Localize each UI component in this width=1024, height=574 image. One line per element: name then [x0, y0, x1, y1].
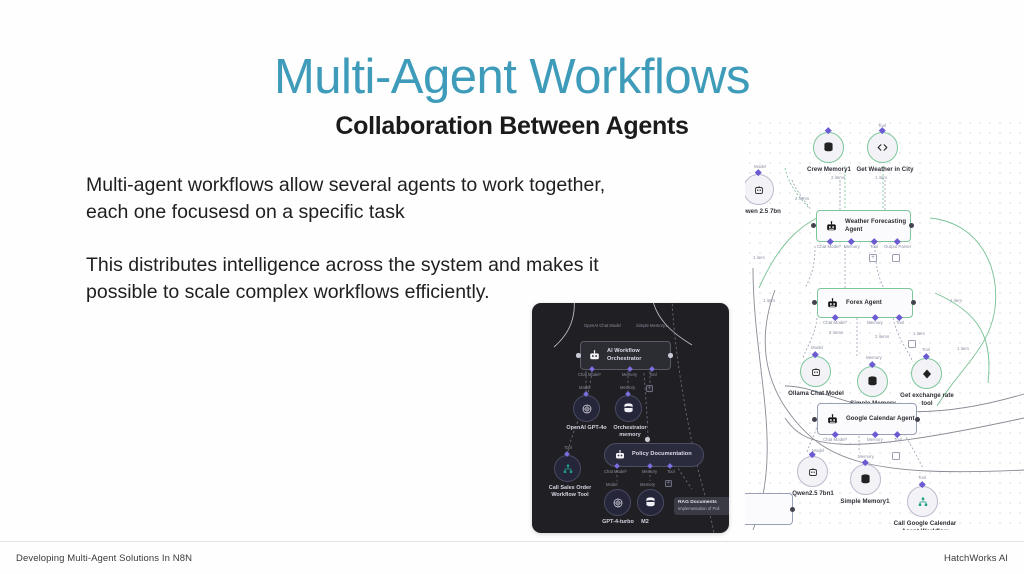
agent-robot-icon	[826, 297, 839, 310]
node-get-weather-in-city[interactable]	[867, 132, 898, 163]
body-paragraph-2: This distributes intelligence across the…	[86, 252, 616, 306]
node-label-orchestrator-memory: Orchestrator memory	[599, 425, 661, 439]
tooltip-rag-documents: RAG Documents Implementation of Poli	[674, 497, 729, 515]
port-out-calendar-agent[interactable]	[915, 417, 920, 422]
node-gpt-4-turbo[interactable]	[604, 489, 631, 516]
port-label-tool-sales: Tool	[564, 445, 572, 450]
port-out-forex-agent[interactable]	[911, 300, 916, 305]
node-qwen-25-7bn[interactable]	[745, 174, 774, 205]
add-node-button-weather-tool[interactable]: +	[869, 254, 877, 262]
port-out-weather-agent[interactable]	[909, 223, 914, 228]
agent-robot-icon	[588, 349, 601, 362]
port-in-calendar-agent[interactable]	[812, 417, 817, 422]
port-label-memory-calendar: Memory	[867, 437, 883, 442]
database-icon	[622, 402, 635, 415]
node-google-calendar-agent-box[interactable]: Google Calendar Agent	[817, 403, 917, 435]
node-call-sales-order-workflow-tool[interactable]	[554, 455, 581, 482]
port-label-memory-policy: Memory	[642, 469, 657, 474]
edge-items-right-a: 1 item	[957, 346, 969, 351]
port-label-chat-model-orchestrator: Chat Model*	[578, 372, 601, 377]
add-node-button-weather-parser[interactable]	[892, 254, 900, 262]
node-m2[interactable]	[637, 489, 664, 516]
node-label-simple-memory1-light: Simple Memory1	[825, 498, 905, 506]
edge-items-weather-b: 1 item	[875, 175, 887, 180]
node-label-forex-agent: Forex Agent	[846, 299, 882, 307]
edge-label-tool-weather: Tool	[878, 123, 886, 128]
port-label-chat-model-forex: Chat Model*	[823, 320, 847, 325]
edge-label-model-qwen: Model	[754, 164, 766, 169]
node-label-simple-memory1-dark: Simple Memory1	[636, 323, 667, 328]
node-crew-memory1[interactable]	[813, 132, 844, 163]
edge-items-forex-in: 1 item	[763, 298, 775, 303]
port-label-model-orchestrator: Model	[579, 385, 590, 390]
port-in-weather-agent[interactable]	[811, 223, 816, 228]
edge-items-weather-c: 2 items	[795, 196, 809, 201]
add-node-button-forex-tool[interactable]	[908, 340, 916, 348]
node-label-m2: M2	[630, 519, 660, 526]
agent-robot-icon	[614, 449, 626, 461]
port-label-memory-weather: Memory	[844, 244, 860, 249]
node-label-qwen25-7bn1: Qwen2.5 7bn1	[775, 490, 851, 498]
add-node-button-policy-tool[interactable]: +	[665, 480, 672, 487]
port-label-memory-orchestrator-2: Memory	[620, 385, 635, 390]
workflow-canvas-dark[interactable]: OpenAI Chat Model Simple Memory1 AI Work…	[532, 303, 729, 533]
node-call-google-calendar-agent-workflow[interactable]	[907, 486, 938, 517]
port-out-partial-left[interactable]	[790, 507, 795, 512]
port-label-tool-call-calendar: Tool	[918, 475, 926, 480]
node-label-google-calendar-agent: Google Calendar Agent	[846, 415, 915, 423]
port-label-tool-calendar: Tool	[894, 437, 902, 442]
port-in-policy-documentation[interactable]	[645, 437, 650, 442]
node-policy-documentation[interactable]: Policy Documentation	[604, 443, 704, 467]
openai-icon	[612, 497, 624, 509]
database-icon	[644, 496, 657, 509]
port-label-memory-forex: Memory	[867, 320, 883, 325]
port-in-orchestrator[interactable]	[576, 353, 581, 358]
tooltip-subtitle: Implementation of Poli	[678, 506, 729, 511]
code-icon	[876, 141, 889, 154]
port-label-memory-orchestrator: Memory	[622, 372, 637, 377]
port-label-output-parser-weather: Output Parser	[884, 244, 911, 249]
workflow-canvas-light[interactable]: Crew Memory1 Tool Get Weather in City Mo…	[745, 118, 1024, 530]
node-simple-memory1[interactable]	[850, 464, 881, 495]
node-qwen25-7bn1[interactable]	[797, 456, 828, 487]
page-title: Multi-Agent Workflows	[0, 52, 1024, 103]
body-paragraph-1: Multi-agent workflows allow several agen…	[86, 172, 616, 226]
edge-items-weather-out: 1 item	[753, 255, 765, 260]
workflow-tool-icon	[917, 496, 929, 508]
node-label-call-google-calendar-wf: Call Google Calendar Agent Workflow	[883, 520, 967, 530]
node-ai-workflow-orchestrator[interactable]: AI Workflow Orchestrator	[580, 341, 671, 370]
node-orchestrator-memory[interactable]	[615, 395, 642, 422]
edge-items-weather-a: 2 items	[831, 175, 845, 180]
port-in-forex-agent[interactable]	[812, 300, 817, 305]
node-label-weather-forecasting-agent: Weather Forecasting Agent	[845, 218, 906, 233]
diamond-icon	[921, 368, 933, 380]
agent-robot-icon	[826, 413, 839, 426]
agent-robot-icon	[825, 220, 838, 233]
port-label-chat-model-calendar: Chat Model*	[823, 437, 847, 442]
port-label-memory-calendar2: Memory	[858, 454, 874, 459]
node-ollama-chat-model[interactable]	[800, 356, 831, 387]
port-label-tool-weather2: Tool	[870, 244, 878, 249]
footer-right-text: HatchWorks AI	[944, 553, 1008, 564]
node-get-exchange-rate-tool[interactable]	[911, 358, 942, 389]
port-label-memory-policy-2: Memory	[640, 482, 655, 487]
edge-items-forex-out: 1 item	[950, 298, 962, 303]
port-out-orchestrator[interactable]	[668, 353, 673, 358]
node-openai-gpt-4o[interactable]	[573, 395, 600, 422]
port-label-tool-forex: Tool	[896, 320, 904, 325]
body-copy: Multi-agent workflows allow several agen…	[86, 172, 616, 306]
robot-icon	[807, 466, 819, 478]
footer-divider	[0, 541, 1024, 542]
port-label-tool-orchestrator: Tool	[649, 372, 657, 377]
robot-icon	[810, 366, 822, 378]
port-label-chat-model-weather: Chat Model*	[817, 244, 841, 249]
port-label-model-ollama: Model	[811, 345, 823, 350]
add-node-button-calendar-tool[interactable]	[892, 452, 900, 460]
add-node-button-orchestrator-tool[interactable]: +	[646, 385, 653, 392]
edge-items-forex-memory: 2 items	[875, 334, 889, 339]
robot-icon	[753, 184, 765, 196]
footer-left-text: Developing Multi-Agent Solutions In N8N	[16, 553, 192, 564]
database-icon	[859, 473, 872, 486]
database-icon	[822, 141, 835, 154]
edge-items-forex-model: 2 items	[829, 330, 843, 335]
node-label-policy-documentation: Policy Documentation	[632, 451, 692, 458]
port-label-memory-simple: Memory	[866, 355, 882, 360]
edge-items-forex-tool: 1 item	[913, 331, 925, 336]
node-label-openai-chat-model: OpenAI Chat Model	[584, 323, 621, 328]
port-label-model-policy: Model	[606, 482, 617, 487]
workflow-tool-icon	[562, 463, 574, 475]
node-label-get-weather-in-city: Get Weather in City	[845, 166, 925, 174]
port-label-tool-exchange: Tool	[922, 347, 930, 352]
node-label-qwen-25-7bn: Qwen 2.5 7bn	[745, 208, 791, 216]
port-label-tool-policy: Tool	[667, 469, 675, 474]
openai-icon	[581, 403, 593, 415]
node-label-ai-workflow-orchestrator: AI Workflow Orchestrator	[607, 348, 642, 362]
node-label-call-sales-order-workflow-tool: Call Sales Order Workflow Tool	[534, 485, 606, 499]
slide-root: Multi-Agent Workflows Collaboration Betw…	[0, 0, 1024, 574]
port-label-chat-model-policy: Chat Model*	[604, 469, 627, 474]
